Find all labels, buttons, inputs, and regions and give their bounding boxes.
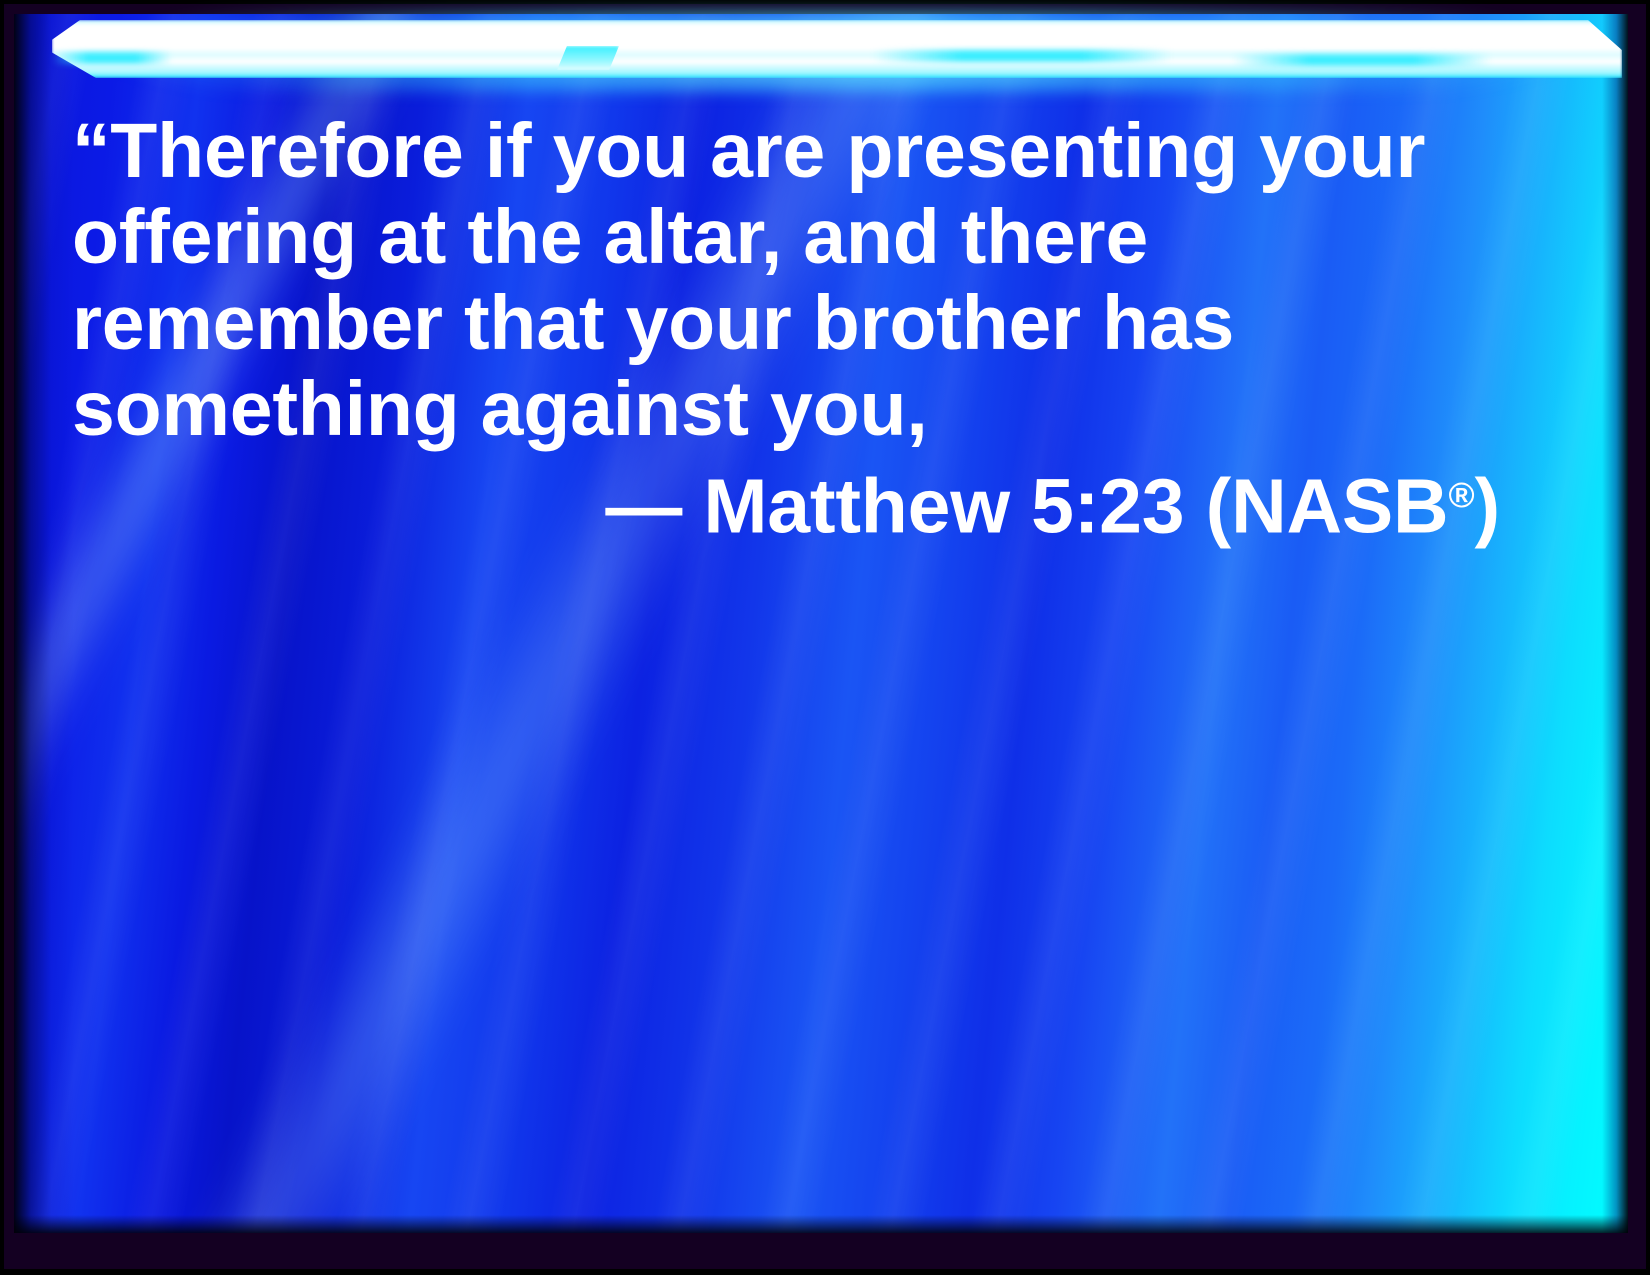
verse-attribution: — Matthew 5:23 (NASB®) (72, 452, 1500, 550)
attribution-reference: Matthew 5:23 (NASB (703, 464, 1448, 550)
verse-text: “Therefore if you are presenting your of… (72, 108, 1492, 452)
scripture-slide: “Therefore if you are presenting your of… (0, 0, 1650, 1275)
slide-text-layer: “Therefore if you are presenting your of… (0, 0, 1650, 1275)
registered-trademark-icon: ® (1448, 475, 1474, 515)
attribution-em-dash: — (605, 464, 703, 550)
attribution-close-paren: ) (1475, 464, 1500, 550)
